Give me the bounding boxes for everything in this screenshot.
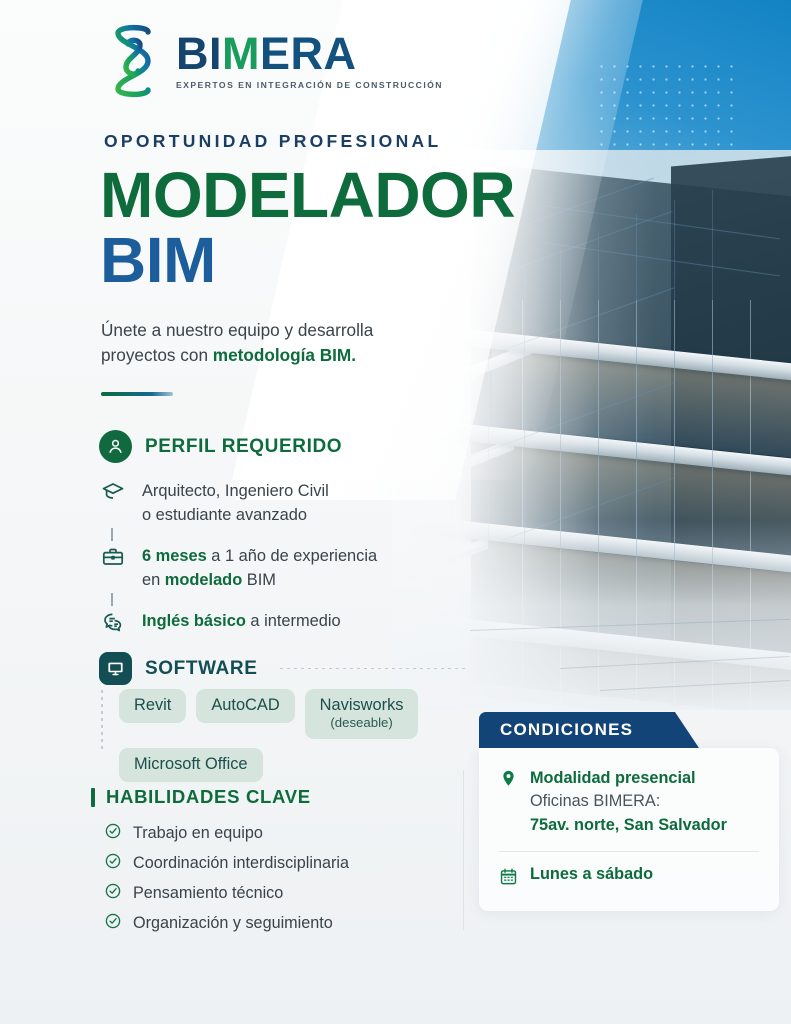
profile-item-1-strong: 6 meses — [142, 547, 207, 565]
software-chip: Navisworks(deseable) — [305, 689, 419, 739]
list-item: Arquitecto, Ingeniero Civil o estudiante… — [99, 478, 459, 527]
list-item: Organización y seguimiento — [104, 908, 474, 938]
map-pin-icon — [499, 767, 518, 837]
list-item-text: 6 meses a 1 año de experiencia en modela… — [142, 543, 377, 592]
profile-item-0-line1: Arquitecto, Ingeniero Civil — [142, 482, 329, 500]
profile-heading-label: PERFIL REQUERIDO — [145, 436, 342, 458]
conditions-location-line2: Oficinas BIMERA: — [530, 790, 727, 814]
page-title-line1: MODELADOR — [100, 163, 515, 227]
skill-label: Coordinación interdisciplinaria — [133, 854, 349, 873]
conditions-body: Modalidad presencial Oficinas BIMERA: 75… — [479, 748, 779, 911]
hero-description: Únete a nuestro equipo y desarrolla proy… — [101, 318, 441, 369]
skills-accent-bar — [91, 788, 95, 807]
connector-line — [111, 528, 113, 541]
conditions-schedule: Lunes a sábado — [499, 865, 759, 891]
check-circle-icon — [104, 852, 122, 875]
skills-heading: HABILIDADES CLAVE — [91, 786, 311, 808]
conditions-location-line3: 75av. norte, San Salvador — [530, 814, 727, 838]
chat-bubbles-icon — [99, 608, 126, 634]
conditions-location-line1: Modalidad presencial — [530, 767, 727, 790]
profile-item-1-line2-prefix: en — [142, 571, 165, 589]
list-item: 6 meses a 1 año de experiencia en modela… — [99, 543, 459, 592]
profile-item-0-line2: o estudiante avanzado — [142, 506, 307, 524]
page-title-line2: BIM — [100, 228, 216, 292]
check-circle-icon — [104, 822, 122, 845]
skills-list: Trabajo en equipo Coordinación interdisc… — [104, 818, 474, 938]
hero-description-strong: metodología BIM. — [213, 345, 356, 365]
software-chip: AutoCAD — [196, 689, 294, 723]
conditions-location: Modalidad presencial Oficinas BIMERA: 75… — [499, 767, 759, 837]
connector-line — [111, 593, 113, 606]
software-heading: SOFTWARE — [99, 652, 469, 685]
profile-heading: PERFIL REQUERIDO — [99, 430, 429, 463]
skill-label: Trabajo en equipo — [133, 824, 263, 843]
user-icon — [99, 430, 132, 463]
list-item-text: Inglés básico a intermedio — [142, 608, 341, 633]
conditions-location-text: Modalidad presencial Oficinas BIMERA: 75… — [530, 767, 727, 837]
check-circle-icon — [104, 882, 122, 905]
briefcase-icon — [99, 543, 126, 569]
software-rail — [101, 690, 103, 752]
software-chip-label: Navisworks — [320, 696, 404, 714]
list-item: Inglés básico a intermedio — [99, 608, 459, 634]
check-circle-icon — [104, 912, 122, 935]
conditions-separator — [499, 851, 759, 852]
graduation-cap-icon — [99, 478, 126, 504]
conditions-card: CONDICIONES Modalidad presencial Oficina… — [479, 712, 779, 911]
software-chip-list: Revit AutoCAD Navisworks(deseable) Micro… — [119, 689, 469, 782]
software-chip-label: Microsoft Office — [134, 755, 248, 773]
bimera-infinity-logo-icon — [104, 24, 162, 98]
software-chip-note: (deseable) — [320, 715, 404, 731]
calendar-icon — [499, 865, 518, 891]
profile-item-2-strong: Inglés básico — [142, 612, 246, 630]
list-item: Coordinación interdisciplinaria — [104, 848, 474, 878]
conditions-banner: CONDICIONES — [479, 712, 675, 748]
conditions-banner-label: CONDICIONES — [500, 720, 633, 740]
list-item: Pensamiento técnico — [104, 878, 474, 908]
skill-label: Organización y seguimiento — [133, 914, 333, 933]
gradient-divider — [101, 392, 173, 396]
profile-list: Arquitecto, Ingeniero Civil o estudiante… — [99, 478, 459, 634]
software-heading-label: SOFTWARE — [145, 658, 257, 680]
job-poster: BIMERA EXPERTOS EN INTEGRACIÓN DE CONSTR… — [0, 0, 791, 1024]
software-chip-label: AutoCAD — [211, 696, 279, 714]
skills-heading-label: HABILIDADES CLAVE — [106, 786, 311, 808]
software-chip-label: Revit — [134, 696, 171, 714]
software-chip: Microsoft Office — [119, 748, 263, 782]
profile-item-1-line2-strong: modelado — [165, 571, 242, 589]
brand-name: BIMERA — [176, 32, 443, 75]
profile-item-1-mid: a 1 año de experiencia — [207, 547, 377, 565]
eyebrow-text: OPORTUNIDAD PROFESIONAL — [104, 131, 441, 152]
conditions-schedule-text: Lunes a sábado — [530, 865, 653, 891]
skill-label: Pensamiento técnico — [133, 884, 283, 903]
brand-tagline: EXPERTOS EN INTEGRACIÓN DE CONSTRUCCIÓN — [176, 80, 443, 90]
dotted-rule — [280, 668, 469, 669]
list-item: Trabajo en equipo — [104, 818, 474, 848]
brand-logo: BIMERA EXPERTOS EN INTEGRACIÓN DE CONSTR… — [104, 24, 443, 98]
profile-item-1-line2-suffix: BIM — [242, 571, 276, 589]
profile-item-2-mid: a intermedio — [246, 612, 341, 630]
monitor-icon — [99, 652, 132, 685]
software-chip: Revit — [119, 689, 186, 723]
list-item-text: Arquitecto, Ingeniero Civil o estudiante… — [142, 478, 329, 527]
